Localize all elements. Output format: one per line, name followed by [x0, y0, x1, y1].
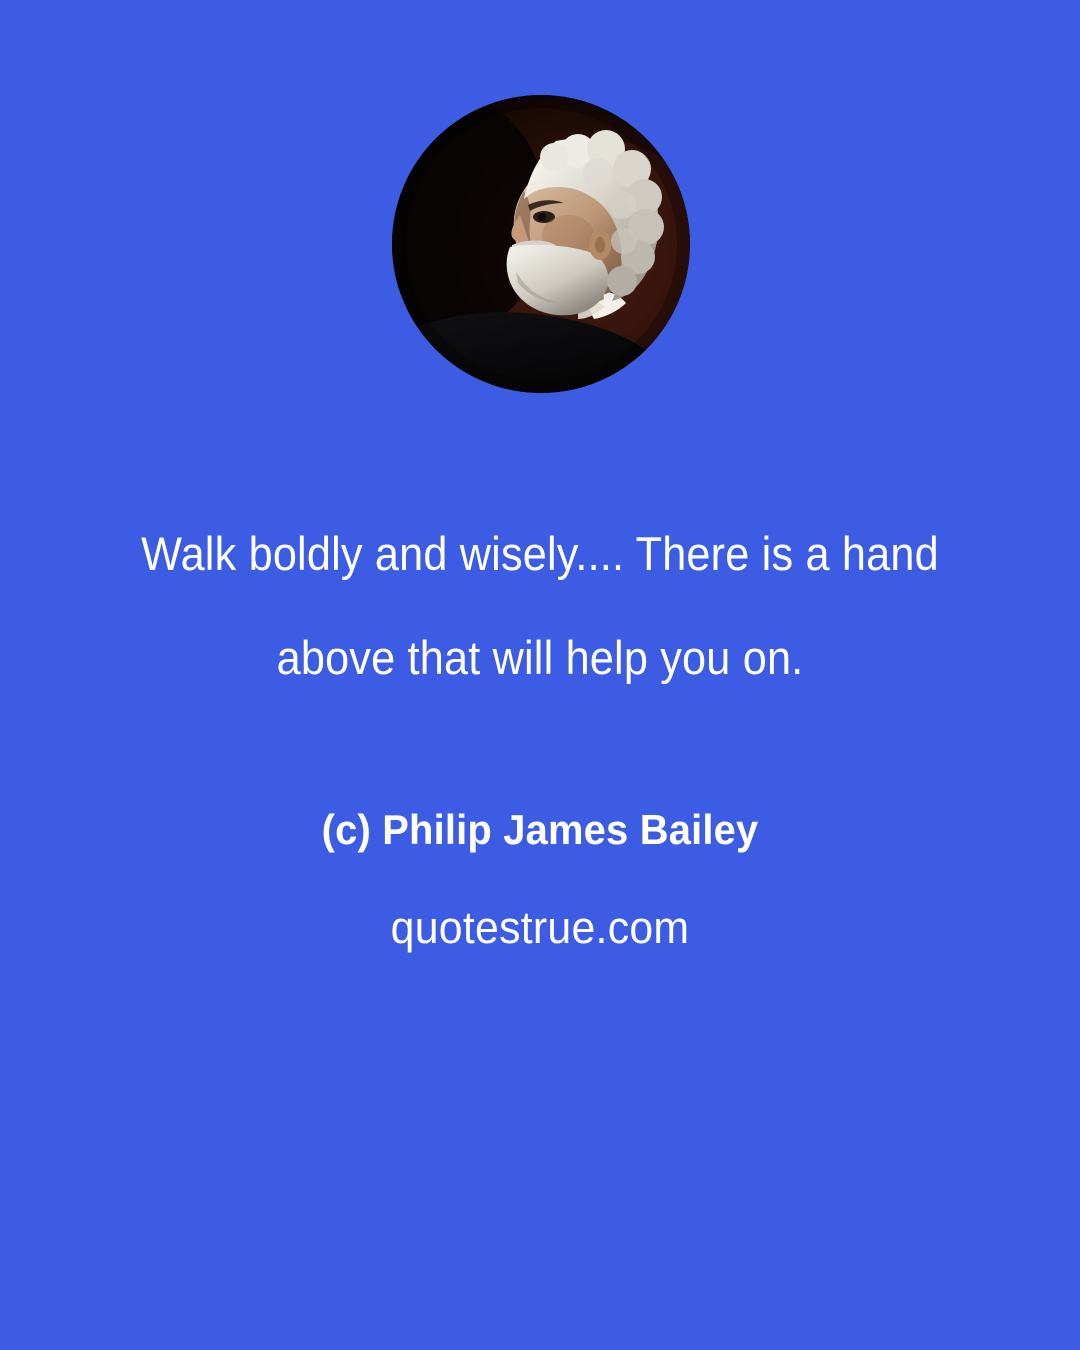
quote-image-card: Walk boldly and wisely.... There is a ha…	[0, 0, 1080, 1350]
quote-text: Walk boldly and wisely.... There is a ha…	[126, 502, 954, 710]
site-watermark: quotestrue.com	[113, 902, 968, 954]
quote-attribution: (c) Philip James Bailey	[113, 806, 968, 854]
author-portrait-avatar	[392, 95, 690, 393]
author-portrait-illustration	[392, 95, 690, 393]
